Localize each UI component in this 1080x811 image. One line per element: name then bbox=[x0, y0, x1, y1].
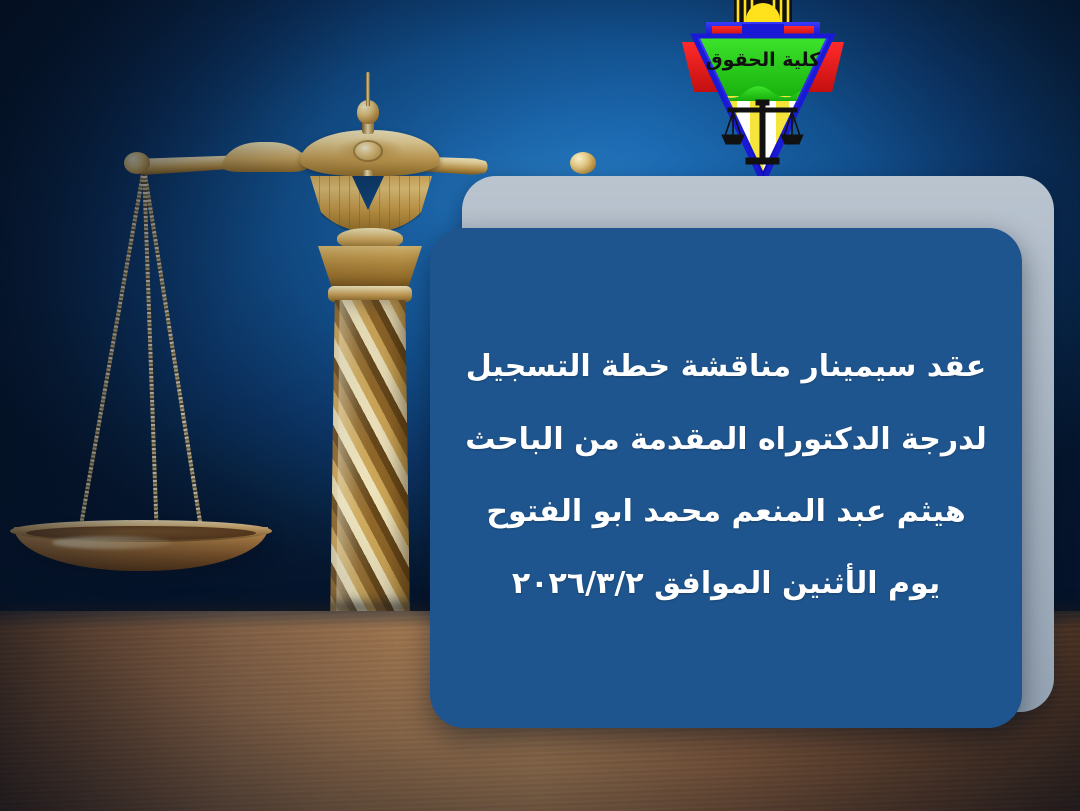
announcement-line-1: عقد سيمينار مناقشة خطة التسجيل bbox=[456, 331, 996, 403]
seminar-date: يوم الأثنين الموافق ٢٠٢٦/٣/٢ bbox=[456, 548, 996, 620]
announcement-card: عقد سيمينار مناقشة خطة التسجيل لدرجة الد… bbox=[430, 228, 1022, 728]
poster-canvas: كلية الحقوق عقد سيمينار مناقشة خطة التسج… bbox=[0, 0, 1080, 811]
faculty-of-law-logo: كلية الحقوق bbox=[672, 0, 854, 192]
announcement-line-2: لدرجة الدكتوراه المقدمة من الباحث bbox=[456, 404, 996, 476]
researcher-name: هيثم عبد المنعم محمد ابو الفتوح bbox=[456, 476, 996, 548]
scales-of-justice-icon bbox=[722, 100, 803, 164]
logo-title-text: كلية الحقوق bbox=[706, 49, 822, 71]
